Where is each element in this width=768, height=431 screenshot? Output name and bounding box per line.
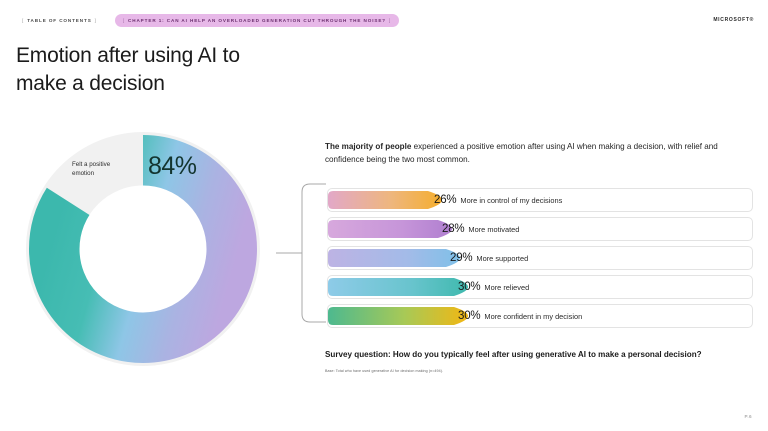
- row-text: 30% More confident in my decision: [458, 310, 582, 322]
- bracket-right-icon: ]: [92, 18, 100, 23]
- row-label: More confident in my decision: [484, 312, 582, 321]
- row-text: 26% More in control of my decisions: [434, 194, 562, 206]
- list-item[interactable]: 28% More motivated: [327, 217, 753, 241]
- lede-paragraph: The majority of people experienced a pos…: [325, 141, 749, 166]
- row-label: More in control of my decisions: [460, 196, 562, 205]
- survey-question: Survey question: How do you typically fe…: [325, 350, 702, 359]
- lede-bold-prefix: The majority of people: [325, 142, 411, 151]
- row-percent: 29%: [450, 252, 472, 264]
- list-item[interactable]: 26% More in control of my decisions: [327, 188, 753, 212]
- bracket-right-icon: ]: [386, 18, 394, 23]
- list-item[interactable]: 30% More confident in my decision: [327, 304, 753, 328]
- row-label: More relieved: [484, 283, 529, 292]
- page-title: Emotion after using AI to make a decisio…: [16, 42, 346, 97]
- page-title-line-2: make a decision: [16, 70, 346, 98]
- row-percent: 26%: [434, 194, 456, 206]
- table-of-contents-label: TABLE OF CONTENTS: [27, 18, 91, 23]
- page-title-line-1: Emotion after using AI to: [16, 42, 346, 70]
- chapter-pill[interactable]: [ CHAPTER 1: CAN AI HELP AN OVERLOADED G…: [115, 14, 399, 27]
- row-percent: 28%: [442, 223, 464, 235]
- row-text: 29% More supported: [450, 252, 528, 264]
- row-label: More motivated: [468, 225, 519, 234]
- row-text: 28% More motivated: [442, 223, 519, 235]
- bracket-left-icon: [: [19, 18, 27, 23]
- donut-inner-edge: [82, 188, 204, 310]
- row-percent: 30%: [458, 310, 480, 322]
- bracket-connector-icon: [272, 182, 328, 324]
- bracket-left-icon: [: [120, 18, 128, 23]
- list-item[interactable]: 29% More supported: [327, 246, 753, 270]
- donut-callout-label: Felt a positive emotion: [72, 160, 126, 179]
- page-number: P.6: [744, 414, 752, 419]
- top-navigation-bar: [ TABLE OF CONTENTS ] [ CHAPTER 1: CAN A…: [14, 12, 754, 28]
- brand-logo: MICROSOFT®: [713, 17, 754, 23]
- emotion-bar-list: 26% More in control of my decisions 28% …: [327, 188, 753, 333]
- donut-chart: [22, 128, 264, 370]
- donut-chart-svg: [22, 128, 264, 370]
- list-item[interactable]: 30% More relieved: [327, 275, 753, 299]
- base-note: Base: Total who have used generative AI …: [325, 369, 443, 373]
- donut-value-label: 84%: [148, 152, 197, 181]
- row-text: 30% More relieved: [458, 281, 529, 293]
- table-of-contents-pill[interactable]: [ TABLE OF CONTENTS ]: [14, 14, 105, 27]
- chapter-label: CHAPTER 1: CAN AI HELP AN OVERLOADED GEN…: [128, 18, 386, 23]
- row-percent: 30%: [458, 281, 480, 293]
- lede-paragraph-container: The majority of people experienced a pos…: [325, 141, 753, 166]
- row-label: More supported: [476, 254, 528, 263]
